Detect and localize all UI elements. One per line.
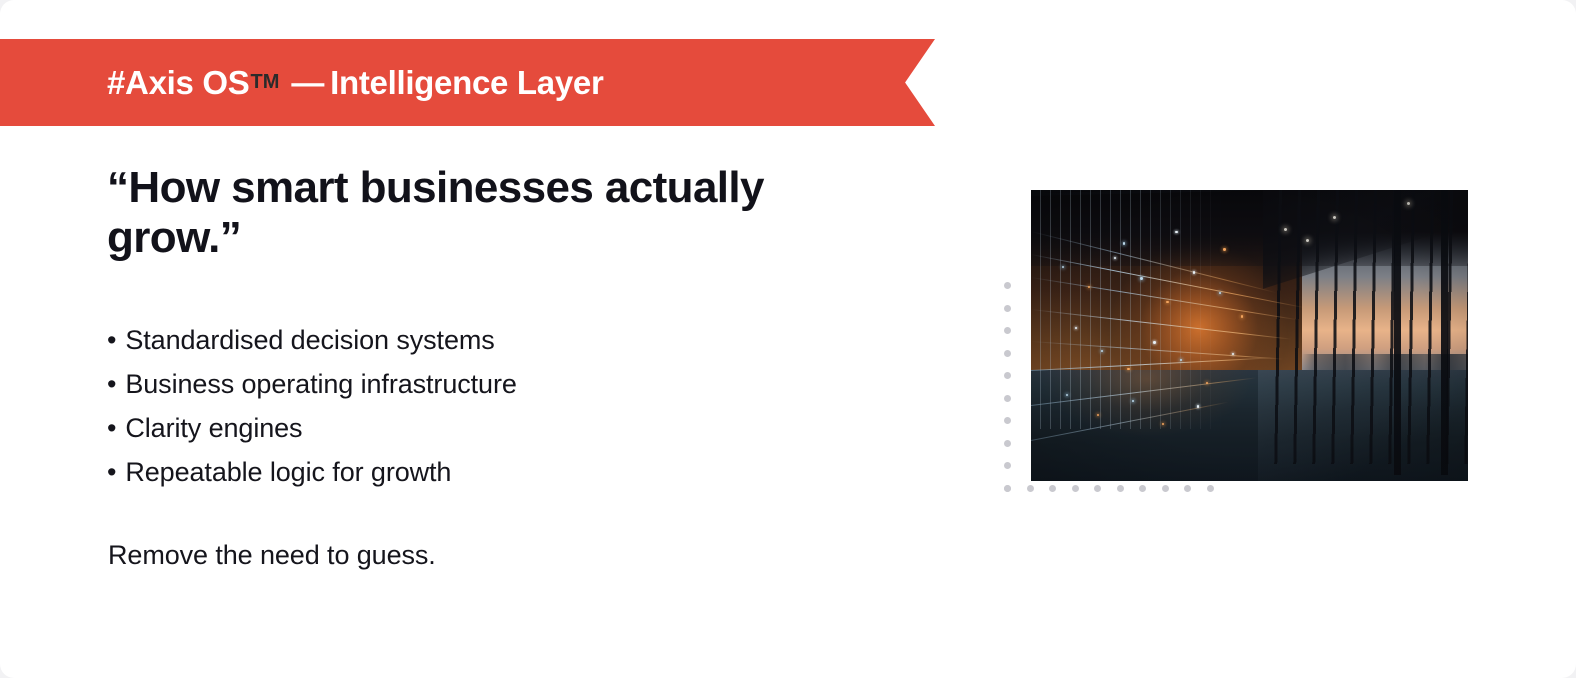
- hero-image: [1031, 190, 1468, 481]
- decorative-dot: [1117, 485, 1124, 492]
- title-separator: —: [291, 64, 324, 101]
- decorative-dot: [1004, 462, 1011, 469]
- list-item: •Repeatable logic for growth: [107, 450, 517, 494]
- list-item: •Standardised decision systems: [107, 318, 517, 362]
- decorative-dot: [1004, 372, 1011, 379]
- decorative-dot-column: [1004, 282, 1011, 492]
- decorative-dot: [1004, 350, 1011, 357]
- bullet-marker-icon: •: [107, 450, 116, 494]
- ribbon-subtitle: Intelligence Layer: [330, 64, 603, 101]
- decorative-dot: [1004, 485, 1011, 492]
- slide-canvas: #Axis OSTM—Intelligence Layer “How smart…: [0, 0, 1576, 678]
- header-ribbon: #Axis OSTM—Intelligence Layer: [0, 39, 935, 126]
- list-item: •Business operating infrastructure: [107, 362, 517, 406]
- visual-block: [1000, 180, 1480, 500]
- bullet-marker-icon: •: [107, 362, 116, 406]
- decorative-dot: [1094, 485, 1101, 492]
- decorative-dot: [1004, 417, 1011, 424]
- list-item-label: Business operating infrastructure: [125, 369, 516, 399]
- decorative-dot: [1027, 485, 1034, 492]
- bullet-marker-icon: •: [107, 318, 116, 362]
- decorative-dot: [1004, 440, 1011, 447]
- decorative-dot: [1139, 485, 1146, 492]
- list-item-label: Repeatable logic for growth: [125, 457, 451, 487]
- content-column: “How smart businesses actually grow.” •S…: [107, 163, 907, 262]
- decorative-dot: [1162, 485, 1169, 492]
- image-vignette: [1031, 190, 1468, 481]
- trademark-mark: TM: [251, 71, 280, 93]
- list-item-label: Standardised decision systems: [125, 325, 494, 355]
- page-headline: “How smart businesses actually grow.”: [107, 163, 877, 262]
- brand-name: #Axis OS: [107, 64, 250, 101]
- decorative-dot-row: [1004, 485, 1214, 492]
- list-item: •Clarity engines: [107, 406, 517, 450]
- decorative-dot: [1072, 485, 1079, 492]
- ribbon-title: #Axis OSTM—Intelligence Layer: [107, 66, 604, 99]
- decorative-dot: [1184, 485, 1191, 492]
- decorative-dot: [1049, 485, 1056, 492]
- decorative-dot: [1004, 282, 1011, 289]
- decorative-dot: [1004, 395, 1011, 402]
- decorative-dot: [1207, 485, 1214, 492]
- decorative-dot: [1004, 305, 1011, 312]
- feature-bullet-list: •Standardised decision systems •Business…: [107, 318, 517, 494]
- closing-statement: Remove the need to guess.: [108, 540, 436, 571]
- decorative-dot: [1004, 327, 1011, 334]
- bullet-marker-icon: •: [107, 406, 116, 450]
- list-item-label: Clarity engines: [125, 413, 302, 443]
